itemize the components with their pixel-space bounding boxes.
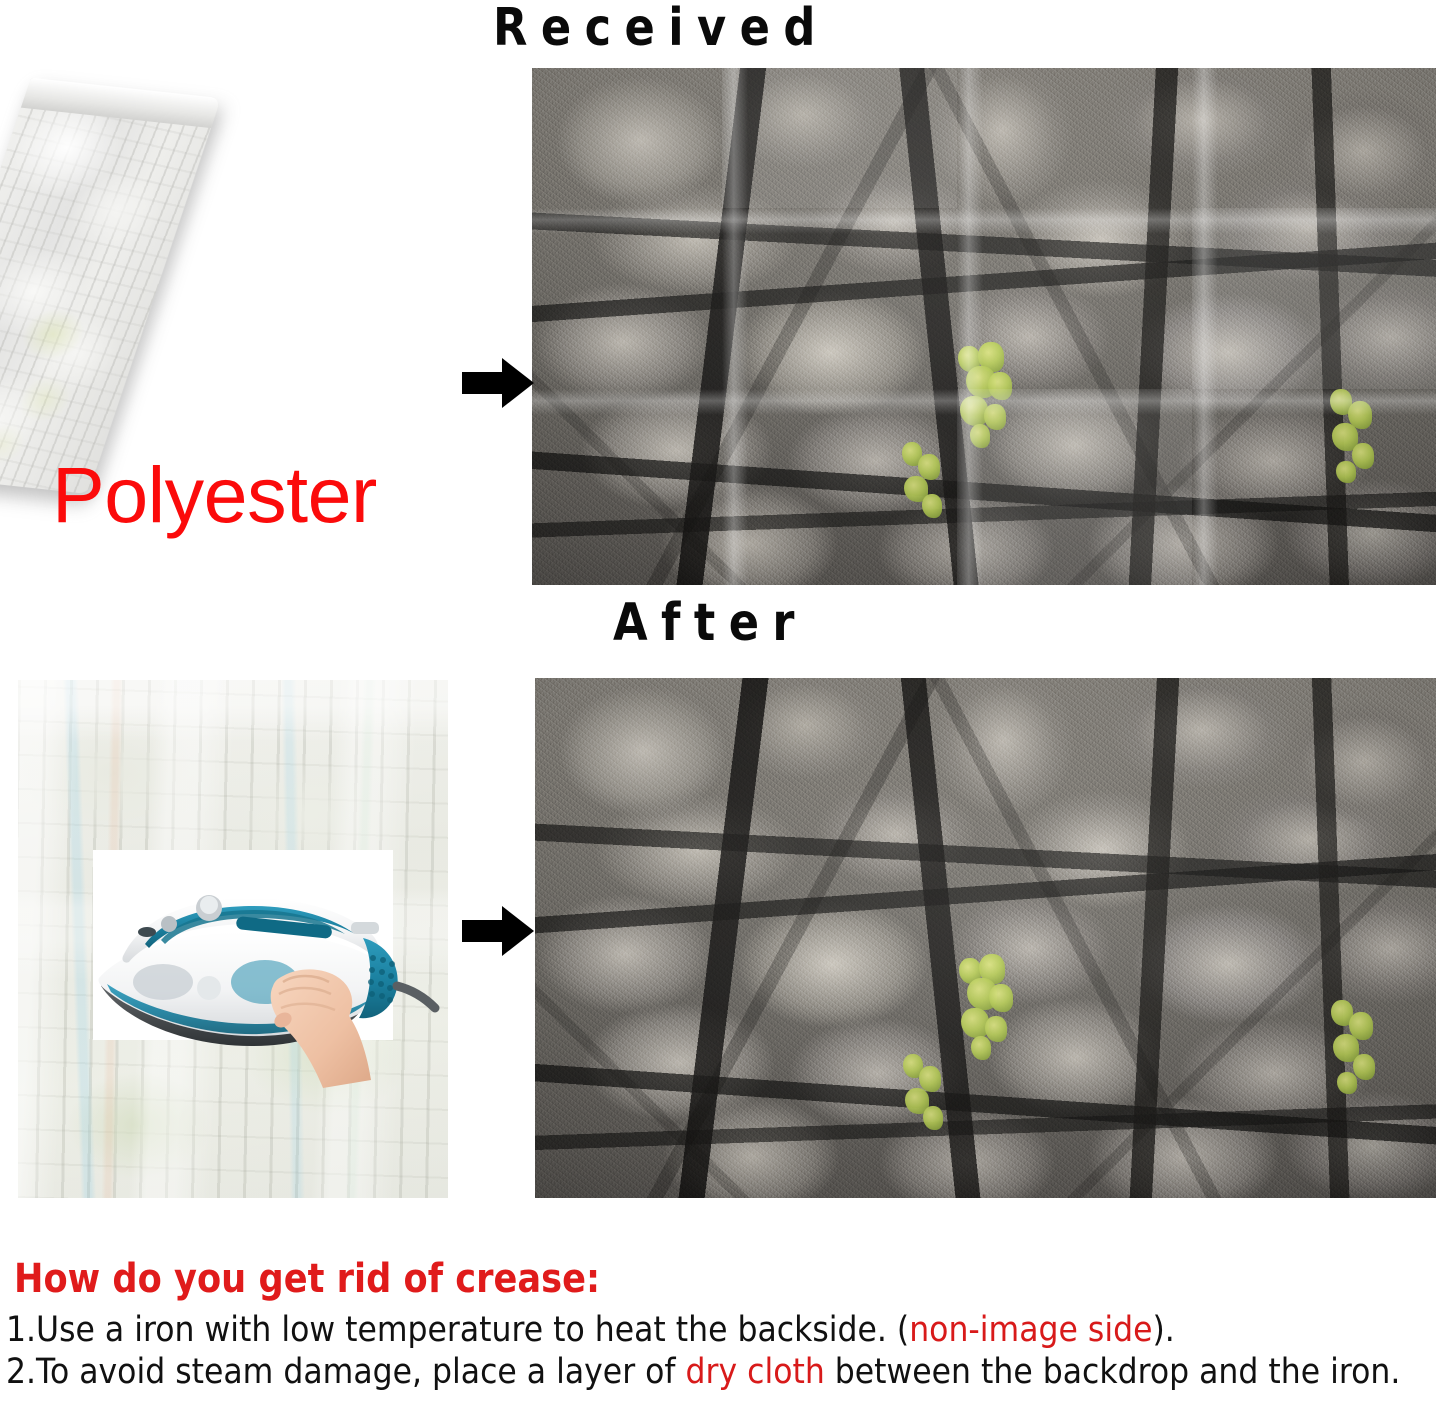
howto-step-2-highlight: dry cloth bbox=[686, 1352, 825, 1392]
howto-step-2-prefix: 2.To avoid steam damage, place a layer o… bbox=[6, 1352, 686, 1392]
iron-spray-button bbox=[161, 916, 177, 932]
iron-steam-knob-top bbox=[200, 896, 218, 914]
howto-step-2: 2.To avoid steam damage, place a layer o… bbox=[6, 1352, 1400, 1392]
received-backdrop-photo bbox=[532, 68, 1436, 585]
arrow-head bbox=[502, 906, 534, 956]
right-arrow-icon bbox=[462, 358, 536, 408]
howto-heading: How do you get rid of crease: bbox=[14, 1256, 600, 1302]
fabric-print-tint bbox=[0, 78, 221, 494]
iron-cord-clip bbox=[351, 922, 379, 934]
iron-photo-card bbox=[93, 850, 393, 1040]
rock-vignette bbox=[535, 678, 1436, 1198]
howto-step-2-suffix: between the backdrop and the iron. bbox=[825, 1352, 1401, 1392]
iron-indicator bbox=[138, 927, 156, 937]
howto-step-1-suffix: ). bbox=[1152, 1310, 1174, 1350]
received-title: Received bbox=[493, 2, 829, 54]
howto-step-1: 1.Use a iron with low temperature to hea… bbox=[6, 1310, 1175, 1350]
infographic-stage: Received Polyester bbox=[0, 0, 1436, 1401]
iron-body-highlight bbox=[133, 964, 193, 1000]
after-title: After bbox=[613, 597, 808, 649]
howto-step-1-prefix: 1.Use a iron with low temperature to hea… bbox=[6, 1310, 909, 1350]
material-label: Polyester bbox=[52, 455, 377, 534]
arrow-shaft bbox=[462, 920, 506, 942]
arrow-head bbox=[502, 358, 534, 408]
iron-illustration bbox=[87, 858, 407, 1088]
after-backdrop-photo bbox=[535, 678, 1436, 1198]
right-arrow-icon bbox=[462, 906, 536, 956]
arrow-shaft bbox=[462, 372, 506, 394]
iron-temperature-dial bbox=[197, 976, 221, 1000]
rock-vignette bbox=[532, 68, 1436, 585]
howto-step-1-highlight: non-image side bbox=[909, 1310, 1152, 1350]
polyester-fabric-swatch bbox=[0, 78, 221, 494]
